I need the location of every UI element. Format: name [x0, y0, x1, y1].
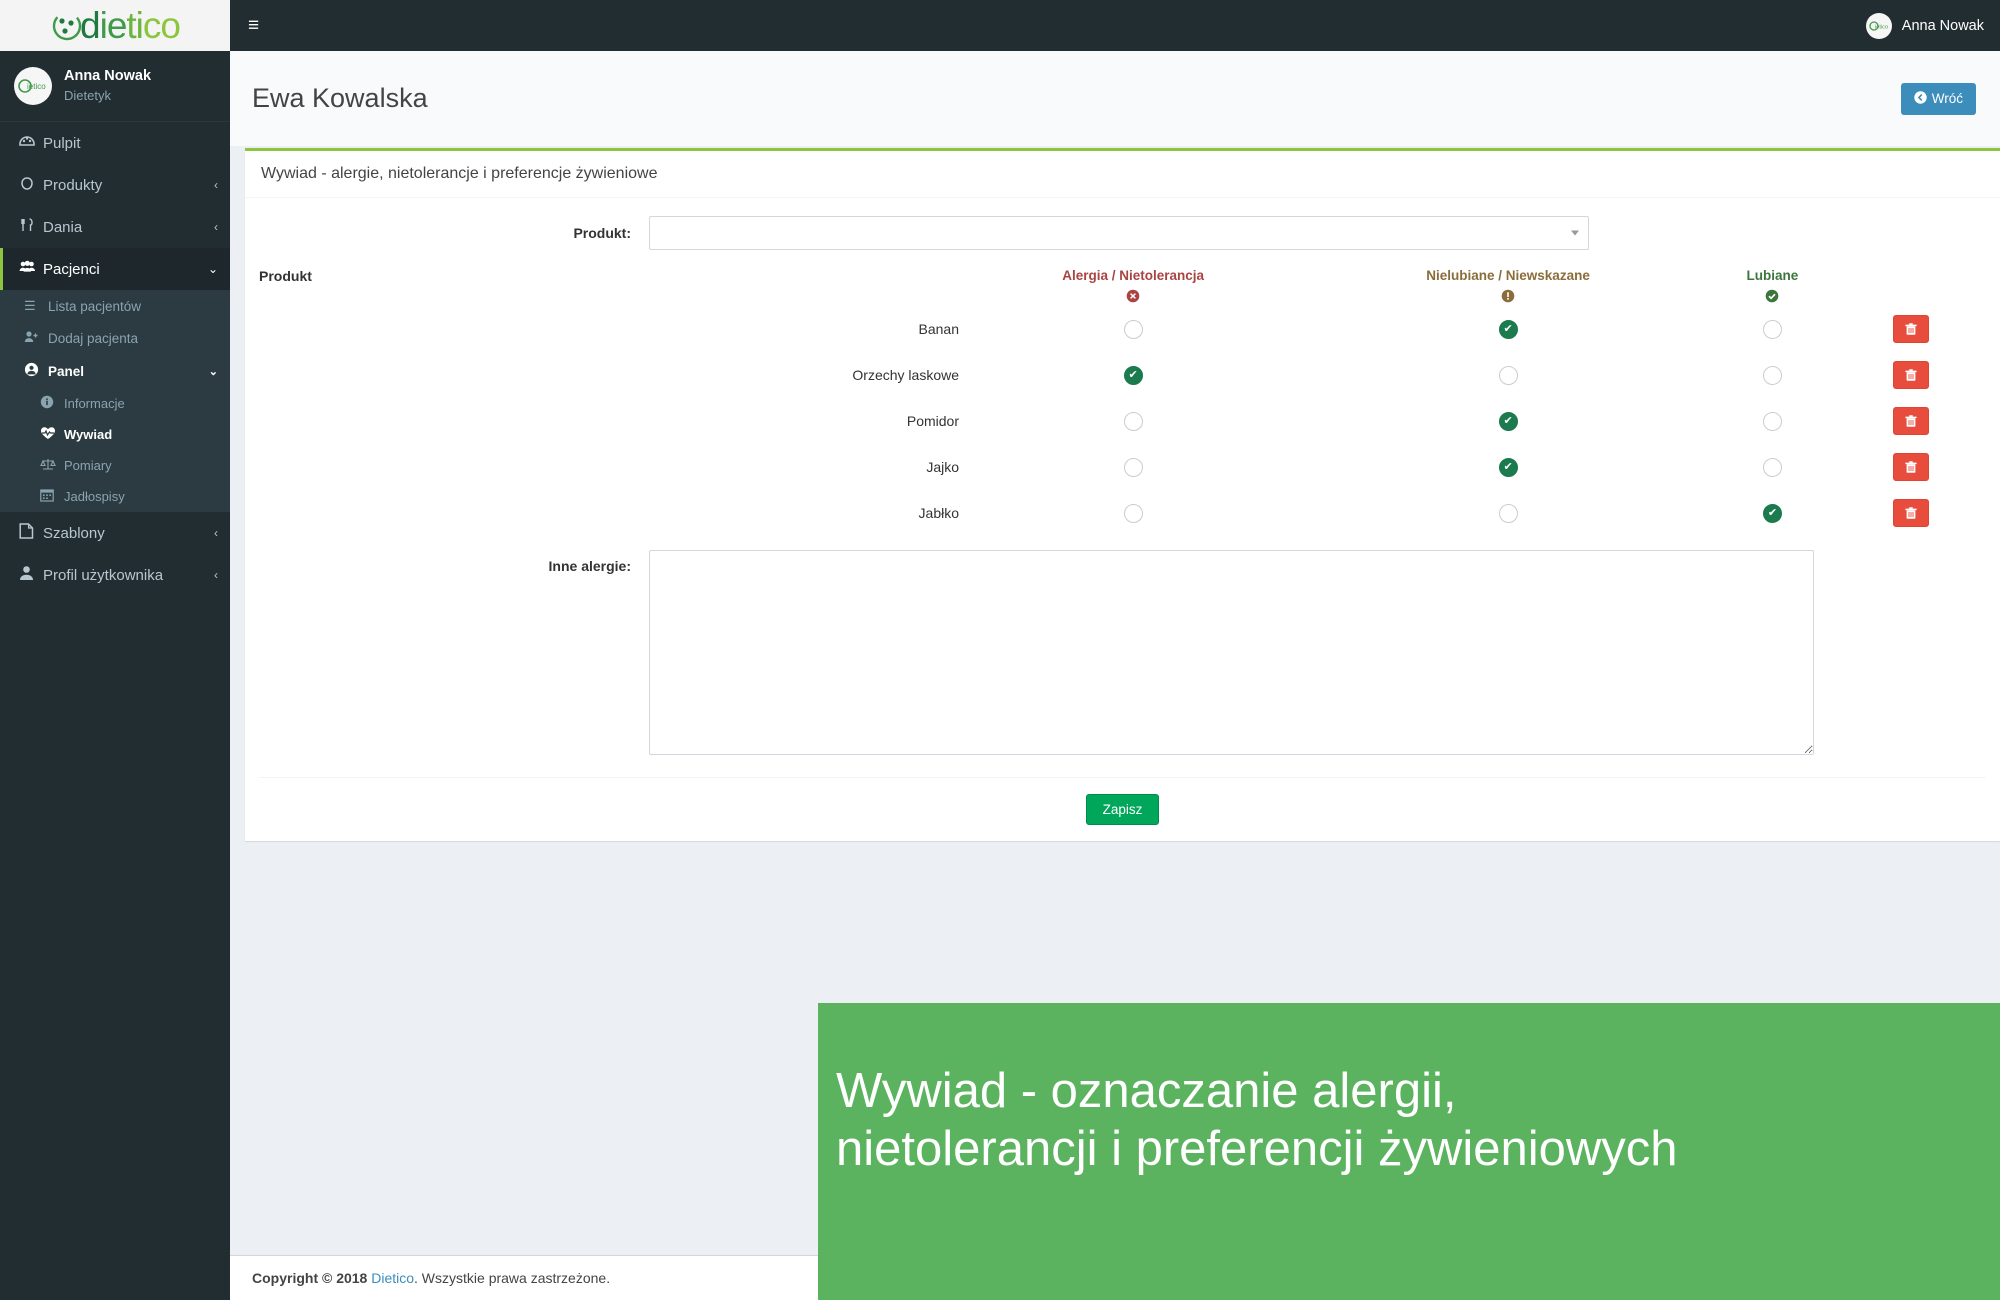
- list-icon: ☰: [24, 298, 48, 314]
- radio-nielubiane[interactable]: ✔: [1499, 412, 1518, 431]
- sidebar-item-label: Dania: [43, 219, 214, 236]
- cell-nielubiane: ✔: [1307, 306, 1709, 352]
- radio-alergia[interactable]: ✔: [1124, 366, 1143, 385]
- dashboard-icon: [19, 133, 43, 153]
- column-header-produkt: Produkt: [259, 268, 959, 306]
- cell-delete: [1836, 306, 1986, 352]
- radio-nielubiane[interactable]: ✔: [1499, 458, 1518, 477]
- caption-line-1: Wywiad - oznaczanie alergii,: [836, 1063, 2000, 1121]
- sidebar-subitem-label: Jadłospisy: [64, 489, 125, 504]
- sidebar-subitem-label: Wywiad: [64, 427, 112, 442]
- chevron-down-icon: ⌄: [209, 365, 218, 378]
- avatar: ietico: [14, 67, 52, 105]
- sidebar-item-label: Pulpit: [43, 135, 218, 152]
- cell-delete: [1836, 352, 1986, 398]
- wywiad-box: Wywiad - alergie, nietolerancje i prefer…: [245, 148, 2000, 841]
- row-product-name: Pomidor: [259, 398, 959, 444]
- exclamation-circle-icon: [1307, 289, 1709, 306]
- heartbeat-icon: [40, 426, 64, 443]
- info-circle-icon: [40, 395, 64, 412]
- sidebar-submenu-panel: Informacje Wywiad Pomiary: [0, 388, 230, 512]
- radio-lubiane[interactable]: ✔: [1763, 366, 1782, 385]
- hamburger-icon[interactable]: ≡: [230, 0, 277, 51]
- cell-alergia: ✔: [959, 306, 1307, 352]
- column-header-lubiane-label: Lubiane: [1709, 268, 1836, 283]
- sidebar-user-panel[interactable]: ietico Anna Nowak Dietetyk: [0, 51, 230, 122]
- chevron-left-icon: ‹: [214, 178, 218, 192]
- table-row: Banan ✔ ✔ ✔: [259, 306, 1986, 352]
- cell-lubiane: ✔: [1709, 490, 1836, 536]
- sidebar-subitem-label: Dodaj pacjenta: [48, 331, 218, 346]
- box-header: Wywiad - alergie, nietolerancje i prefer…: [245, 151, 2000, 198]
- brand-logo[interactable]: dietico: [0, 0, 230, 51]
- product-select-row: Produkt:: [259, 216, 1986, 250]
- column-header-lubiane: Lubiane: [1709, 268, 1836, 306]
- sidebar: dietico ietico Anna Nowak Dietetyk Pulpi…: [0, 0, 230, 1300]
- table-row: Orzechy laskowe ✔ ✔ ✔: [259, 352, 1986, 398]
- sidebar-item-jadlospisy[interactable]: Jadłospisy: [0, 481, 230, 512]
- table-row: Jabłko ✔ ✔ ✔: [259, 490, 1986, 536]
- delete-row-button[interactable]: [1893, 407, 1929, 435]
- preferences-table: Produkt Alergia / Nietolerancja Nielubia…: [259, 268, 1986, 536]
- cell-nielubiane: ✔: [1307, 398, 1709, 444]
- content-header: Ewa Kowalska Wróć: [230, 51, 2000, 146]
- product-select[interactable]: [649, 216, 1589, 250]
- user-plus-icon: [24, 330, 48, 346]
- column-header-alergia: Alergia / Nietolerancja: [959, 268, 1307, 306]
- navbar-user-menu[interactable]: ietico Anna Nowak: [1866, 13, 2000, 39]
- radio-lubiane[interactable]: ✔: [1763, 504, 1782, 523]
- box-body: Produkt: Produkt Alergia / Nietolerancja: [245, 198, 2000, 841]
- user-icon: [19, 565, 43, 585]
- cell-alergia: ✔: [959, 490, 1307, 536]
- sidebar-item-produkty[interactable]: Produkty ‹: [0, 164, 230, 206]
- sidebar-item-lista-pacjentow[interactable]: ☰ Lista pacjentów: [0, 290, 230, 322]
- svg-text:ietico: ietico: [27, 82, 46, 91]
- sidebar-item-dodaj-pacjenta[interactable]: Dodaj pacjenta: [0, 322, 230, 354]
- cell-nielubiane: ✔: [1307, 444, 1709, 490]
- product-select-label: Produkt:: [259, 225, 649, 241]
- sidebar-user-name: Anna Nowak: [64, 67, 151, 87]
- caption-overlay: Wywiad - oznaczanie alergii, nietoleranc…: [818, 1003, 2000, 1300]
- chevron-down-icon: [1571, 231, 1579, 236]
- other-allergies-textarea[interactable]: [649, 550, 1814, 755]
- radio-lubiane[interactable]: ✔: [1763, 320, 1782, 339]
- cell-nielubiane: ✔: [1307, 352, 1709, 398]
- box-title: Wywiad - alergie, nietolerancje i prefer…: [261, 165, 657, 182]
- copyright-suffix: . Wszystkie prawa zastrzeżone.: [414, 1270, 610, 1286]
- delete-row-button[interactable]: [1893, 361, 1929, 389]
- radio-alergia[interactable]: ✔: [1124, 504, 1143, 523]
- sidebar-item-label: Szablony: [43, 525, 214, 542]
- sidebar-item-label: Pacjenci: [43, 261, 208, 278]
- cell-lubiane: ✔: [1709, 398, 1836, 444]
- back-button-label: Wróć: [1932, 91, 1963, 106]
- cell-alergia: ✔: [959, 398, 1307, 444]
- table-row: Jajko ✔ ✔ ✔: [259, 444, 1986, 490]
- brand-link[interactable]: Dietico: [371, 1270, 414, 1286]
- caption-line-2: nietolerancji i preferencji żywieniowych: [836, 1121, 2000, 1179]
- preferences-table-body: Banan ✔ ✔ ✔ Orzechy laskowe ✔ ✔ ✔ Pomido…: [259, 306, 1986, 536]
- row-product-name: Banan: [259, 306, 959, 352]
- sidebar-subitem-label: Pomiary: [64, 458, 112, 473]
- sidebar-item-wywiad[interactable]: Wywiad: [0, 419, 230, 450]
- other-allergies-row: Inne alergie:: [259, 550, 1986, 755]
- back-button[interactable]: Wróć: [1901, 83, 1976, 115]
- cell-lubiane: ✔: [1709, 444, 1836, 490]
- table-header-row: Produkt Alergia / Nietolerancja Nielubia…: [259, 268, 1986, 306]
- brand-logo-text: dietico: [80, 7, 180, 44]
- sidebar-item-informacje[interactable]: Informacje: [0, 388, 230, 419]
- navbar-user-name: Anna Nowak: [1902, 18, 1984, 34]
- radio-nielubiane[interactable]: ✔: [1499, 504, 1518, 523]
- user-circle-icon: [24, 362, 48, 380]
- radio-alergia[interactable]: ✔: [1124, 458, 1143, 477]
- sidebar-subitem-label: Panel: [48, 364, 209, 379]
- radio-lubiane[interactable]: ✔: [1763, 458, 1782, 477]
- column-header-alergia-label: Alergia / Nietolerancja: [959, 268, 1307, 283]
- cell-lubiane: ✔: [1709, 352, 1836, 398]
- sidebar-subitem-label: Informacje: [64, 396, 125, 411]
- chevron-left-icon: ‹: [214, 568, 218, 582]
- arrow-left-circle-icon: [1914, 91, 1927, 107]
- table-row: Pomidor ✔ ✔ ✔: [259, 398, 1986, 444]
- avatar: ietico: [1866, 13, 1892, 39]
- copyright-text: Copyright © 2018 Dietico. Wszystkie praw…: [252, 1270, 610, 1286]
- svg-text:ietico: ietico: [1875, 24, 1888, 30]
- check-circle-icon: [1709, 289, 1836, 306]
- row-product-name: Orzechy laskowe: [259, 352, 959, 398]
- top-navbar: ≡ ietico Anna Nowak: [230, 0, 2000, 51]
- dietico-logo-icon: [50, 9, 84, 43]
- copyright-prefix: Copyright © 2018: [252, 1270, 371, 1286]
- chevron-down-icon: ⌄: [208, 262, 218, 276]
- radio-nielubiane[interactable]: ✔: [1499, 366, 1518, 385]
- page-title: Ewa Kowalska: [252, 83, 428, 114]
- times-circle-icon: [959, 289, 1307, 306]
- radio-alergia[interactable]: ✔: [1124, 412, 1143, 431]
- chevron-left-icon: ‹: [214, 220, 218, 234]
- radio-nielubiane[interactable]: ✔: [1499, 320, 1518, 339]
- other-allergies-label: Inne alergie:: [259, 550, 649, 574]
- cell-alergia: ✔: [959, 352, 1307, 398]
- box-footer: Zapisz: [259, 777, 1986, 841]
- save-button[interactable]: Zapisz: [1086, 794, 1160, 825]
- radio-lubiane[interactable]: ✔: [1763, 412, 1782, 431]
- sidebar-submenu-pacjenci: ☰ Lista pacjentów Dodaj pacjenta Panel ⌄: [0, 290, 230, 512]
- row-product-name: Jajko: [259, 444, 959, 490]
- apple-icon: [19, 175, 43, 195]
- column-header-nielubiane: Nielubiane / Niewskazane: [1307, 268, 1709, 306]
- balance-scale-icon: [40, 457, 64, 474]
- cutlery-icon: [19, 217, 43, 237]
- sidebar-item-panel[interactable]: Panel ⌄: [0, 354, 230, 388]
- delete-row-button[interactable]: [1893, 315, 1929, 343]
- cell-alergia: ✔: [959, 444, 1307, 490]
- column-header-nielubiane-label: Nielubiane / Niewskazane: [1307, 268, 1709, 283]
- file-icon: [19, 523, 43, 543]
- column-header-actions: [1836, 268, 1986, 306]
- sidebar-item-label: Profil użytkownika: [43, 567, 214, 584]
- cell-lubiane: ✔: [1709, 306, 1836, 352]
- sidebar-item-dania[interactable]: Dania ‹: [0, 206, 230, 248]
- sidebar-menu: Pulpit Produkty ‹ Dania ‹ Pacjenci ⌄: [0, 122, 230, 290]
- sidebar-item-szablony[interactable]: Szablony ‹: [0, 512, 230, 554]
- chevron-left-icon: ‹: [214, 526, 218, 540]
- sidebar-user-role: Dietetyk: [64, 87, 151, 105]
- cell-delete: [1836, 444, 1986, 490]
- cell-nielubiane: ✔: [1307, 490, 1709, 536]
- sidebar-menu-bottom: Szablony ‹ Profil użytkownika ‹: [0, 512, 230, 596]
- delete-row-button[interactable]: [1893, 453, 1929, 481]
- calendar-icon: [40, 488, 64, 505]
- sidebar-item-pacjenci[interactable]: Pacjenci ⌄: [0, 248, 230, 290]
- sidebar-item-label: Produkty: [43, 177, 214, 194]
- delete-row-button[interactable]: [1893, 499, 1929, 527]
- sidebar-item-pomiary[interactable]: Pomiary: [0, 450, 230, 481]
- users-icon: [19, 259, 43, 279]
- sidebar-item-profil-uzytkownika[interactable]: Profil użytkownika ‹: [0, 554, 230, 596]
- row-product-name: Jabłko: [259, 490, 959, 536]
- cell-delete: [1836, 490, 1986, 536]
- sidebar-subitem-label: Lista pacjentów: [48, 299, 218, 314]
- sidebar-item-pulpit[interactable]: Pulpit: [0, 122, 230, 164]
- cell-delete: [1836, 398, 1986, 444]
- radio-alergia[interactable]: ✔: [1124, 320, 1143, 339]
